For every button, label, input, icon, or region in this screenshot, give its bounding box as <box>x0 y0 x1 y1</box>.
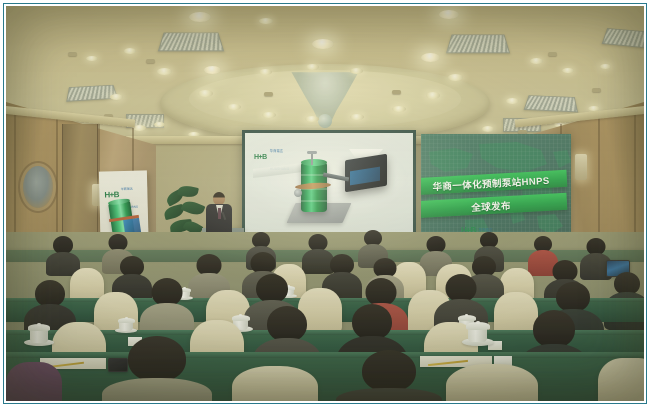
wall-medallion-ornament <box>23 166 53 208</box>
audience-person <box>46 236 80 276</box>
ceiling-speaker-icon <box>592 88 601 92</box>
hvac-vent-icon <box>446 34 510 53</box>
ceiling-downlight-icon <box>259 18 273 24</box>
person-head <box>533 310 575 348</box>
hvac-vent-icon <box>158 32 224 51</box>
ceiling-downlight-icon <box>392 106 406 112</box>
person-head <box>352 304 392 340</box>
ceiling-downlight-icon <box>426 92 440 99</box>
banner-headline-2: 全球发布 <box>471 197 511 213</box>
person-head <box>366 278 397 306</box>
cup-knob <box>476 321 480 324</box>
rollup-logo-cn: 华商瑞达 <box>121 187 133 191</box>
ceiling-speaker-icon <box>548 52 557 56</box>
cup-knob <box>239 314 242 316</box>
ceiling-speaker-icon <box>68 52 77 56</box>
cup-knob <box>37 323 41 326</box>
chandelier-drop <box>318 114 332 128</box>
person-head <box>556 282 590 312</box>
ceiling-downlight-icon <box>262 112 276 118</box>
ceiling-downlight-icon <box>157 68 172 75</box>
teacup-icon <box>118 317 135 333</box>
presenter-tie <box>218 208 221 219</box>
ceiling-downlight-icon <box>198 90 213 97</box>
person-head <box>152 278 183 306</box>
model-band <box>301 200 327 202</box>
chair <box>446 364 538 401</box>
person-shoulders <box>102 378 212 401</box>
projected-slide: H+B 华商瑞达 HUASHANG <box>245 133 413 235</box>
ceiling-downlight-icon <box>600 64 611 69</box>
ceiling-speaker-icon <box>392 90 401 94</box>
hvac-vent-icon <box>66 85 118 102</box>
ceiling-downlight-icon <box>305 116 319 122</box>
ceiling-downlight-icon <box>350 114 364 120</box>
photo-frame: H+B 华商瑞达 HUASHANG <box>0 0 650 407</box>
audience-person <box>102 336 212 401</box>
chair <box>232 366 318 401</box>
audience-person <box>6 362 62 401</box>
ceiling-downlight-icon <box>448 74 463 81</box>
ceiling-downlight-icon <box>506 98 519 104</box>
model-valve <box>294 189 302 197</box>
wall-sconce-icon <box>575 154 587 180</box>
teacup-icon <box>466 322 490 346</box>
ceiling-downlight-icon <box>259 69 272 75</box>
cup-body <box>30 329 48 343</box>
ceiling-downlight-icon <box>154 122 165 127</box>
model-knob <box>307 151 317 154</box>
cup-knob <box>465 314 468 316</box>
teacup-icon <box>28 324 50 346</box>
person-shoulders <box>6 362 62 401</box>
person-head <box>267 306 307 342</box>
ceiling-speaker-icon <box>146 59 155 63</box>
hvac-vent-icon <box>524 95 578 112</box>
model-stem <box>311 153 313 165</box>
ceiling-downlight-icon <box>227 104 241 110</box>
ceiling-downlight-icon <box>312 39 334 49</box>
person-head <box>35 280 65 307</box>
ceiling-downlight-icon <box>350 68 363 74</box>
ceiling-downlight-icon <box>124 48 136 54</box>
ceiling-downlight-icon <box>86 56 98 61</box>
slide-3d-model <box>245 151 413 235</box>
ceiling-downlight-icon <box>189 12 211 22</box>
audience-person <box>336 350 442 401</box>
plant-leaf <box>181 198 206 217</box>
person-shoulders <box>336 388 442 401</box>
conference-photo: H+B 华商瑞达 HUASHANG <box>6 6 644 401</box>
projection-screen: H+B 华商瑞达 HUASHANG <box>242 130 416 238</box>
person-head <box>362 350 416 392</box>
ceiling-downlight-icon <box>421 53 440 62</box>
person-head <box>128 336 186 382</box>
hvac-vent-icon <box>602 28 644 49</box>
ceiling-downlight-icon <box>204 66 221 74</box>
ceiling-downlight-icon <box>482 126 494 132</box>
ceiling-speaker-icon <box>264 92 273 96</box>
ceiling-downlight-icon <box>306 64 319 70</box>
ceiling-downlight-icon <box>439 10 459 19</box>
ceiling-downlight-icon <box>562 68 574 73</box>
cup-knob <box>125 317 128 319</box>
person-head <box>446 274 477 302</box>
ceiling-downlight-icon <box>530 58 543 64</box>
person-head <box>256 274 288 303</box>
chair <box>598 358 644 401</box>
ceiling-downlight-icon <box>110 94 123 100</box>
ceiling-downlight-icon <box>133 125 146 131</box>
